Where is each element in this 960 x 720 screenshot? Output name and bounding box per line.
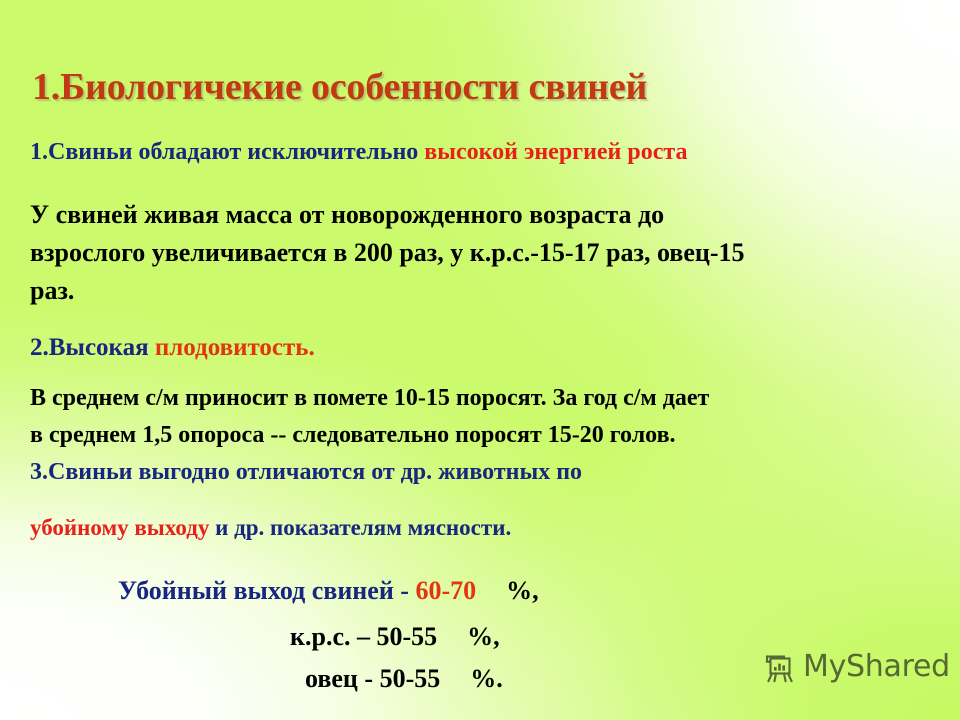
stat-row-cattle-unit: %, [467,622,500,651]
point-2-body-line-1: В среднем с/м приносит в помете 10-15 по… [30,380,950,417]
stat-row-sheep-unit: %. [470,664,503,693]
stat-row-sheep-value: 50-55 [380,664,441,693]
point-1-heading-blue: 1.Свиньи обладают исключительно [30,139,424,165]
point-1-body: У свиней живая масса от новорожденного в… [30,196,930,310]
stat-row-sheep-label: овец - [305,664,380,693]
stat-row-cattle-label: к.р.с. – [290,622,376,651]
flip-chart-icon [762,650,796,684]
slide-content: 1.Биологичекие особенности свиней 1.Свин… [0,0,960,720]
stat-row-cattle: к.р.с. – 50-55%, [290,622,500,652]
point-2-body-line-2: в среднем 1,5 опороса -- следовательно п… [30,417,950,454]
point-3-red-phrase: убойному выходу [30,515,209,540]
myshared-watermark: MyShared [762,650,950,684]
point-2-heading: 2.Высокая плодовитость. [30,332,315,364]
point-3-heading: 3.Свиньи выгодно отличаются от др. живот… [30,457,582,487]
stat-row-pigs-unit: %, [506,576,539,605]
point-3-blue-phrase: и др. показателям мясности. [209,515,511,540]
point-1-body-line-3: раз. [30,272,930,310]
point-2-heading-blue: 2.Высокая [30,334,155,361]
presentation-slide: 1.Биологичекие особенности свиней 1.Свин… [0,0,960,720]
point-1-heading: 1.Свиньи обладают исключительно высокой … [30,137,687,167]
point-1-body-line-2: взрослого увеличивается в 200 раз, у к.р… [30,234,930,272]
myshared-watermark-text: MyShared [803,652,950,682]
point-2-body: В среднем с/м приносит в помете 10-15 по… [30,380,950,454]
point-2-heading-red: плодовитость. [155,334,315,361]
point-1-body-line-1: У свиней живая масса от новорожденного в… [30,196,930,234]
point-3-second-line: убойному выходу и др. показателям мяснос… [30,513,511,543]
stat-row-sheep: овец - 50-55%. [305,664,503,694]
stat-row-pigs: Убойный выход свиней - 60-70%, [118,576,539,606]
point-1-heading-red: высокой энергией роста [424,139,687,165]
stat-row-pigs-value: 60-70 [415,576,476,605]
slide-title: 1.Биологичекие особенности свиней [32,64,932,110]
stat-row-cattle-value: 50-55 [376,622,437,651]
stat-row-pigs-label: Убойный выход свиней - [118,576,415,605]
